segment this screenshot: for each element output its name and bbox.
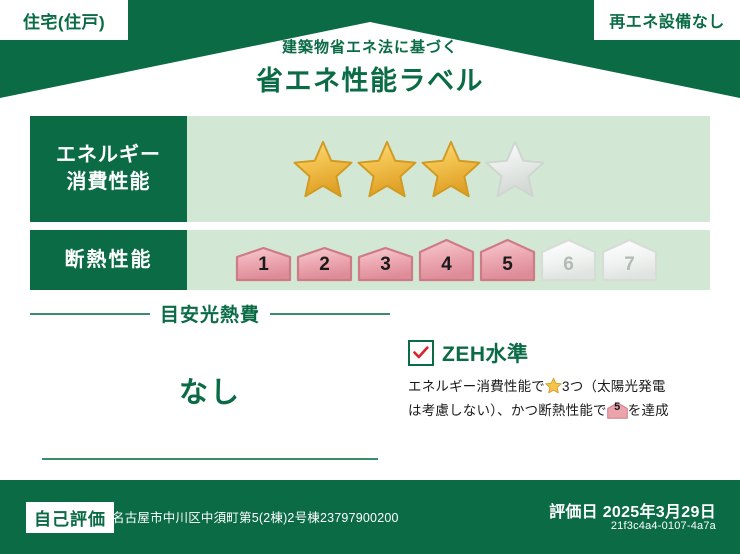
star-filled-icon: [292, 139, 354, 199]
row-energy-content: [187, 116, 710, 222]
row-energy-label-line2: 消費性能: [67, 169, 151, 196]
lower-section: 目安光熱費 なし ZEH水準 エネルギー消費性能で 3: [30, 300, 710, 475]
row-energy-consumption: エネルギー 消費性能: [30, 116, 710, 222]
label-footer: 自己評価 名古屋市中川区中須町第5(2棟)2号棟23797900200 評価日 …: [0, 480, 740, 554]
zeh-header: ZEH水準: [408, 338, 710, 368]
row-insulation: 断熱性能 1234567: [30, 230, 710, 290]
star-rating: [187, 139, 546, 199]
utility-cost-header: 目安光熱費: [30, 300, 390, 327]
zeh-title: ZEH水準: [442, 338, 529, 368]
performance-rows: エネルギー 消費性能 断熱性能 1234567: [30, 116, 710, 298]
insulation-level-7: 7: [601, 238, 658, 282]
energy-performance-label: 住宅(住戸) 再エネ設備なし 建築物省エネ法に基づく 省エネ性能ラベル エネルギ…: [0, 0, 740, 554]
inline-house-number: 5: [607, 398, 628, 417]
insulation-scale: 1234567: [187, 238, 658, 282]
title-subtitle: 建築物省エネ法に基づく: [0, 36, 740, 57]
insulation-level-3: 3: [357, 246, 414, 282]
insulation-level-5: 5: [479, 238, 536, 282]
insulation-level-number: 3: [357, 254, 414, 276]
self-evaluation-badge: 自己評価: [26, 502, 114, 533]
zeh-desc-part3: を達成: [628, 403, 669, 418]
utility-cost-value: なし: [30, 369, 390, 411]
zeh-description: エネルギー消費性能で 3つ（太陽光発電 は考慮しない）、かつ断熱性能で 5 を達…: [408, 375, 710, 422]
insulation-level-number: 2: [296, 254, 353, 276]
insulation-level-number: 6: [540, 254, 597, 276]
badge-renewable-energy: 再エネ設備なし: [594, 0, 740, 40]
inline-house-badge: 5: [607, 402, 628, 419]
insulation-level-number: 5: [479, 254, 536, 276]
property-address: 名古屋市中川区中須町第5(2棟)2号棟23797900200: [112, 507, 399, 526]
zeh-desc-part1: エネルギー消費性能で: [408, 379, 545, 394]
inline-star-icon: [545, 377, 562, 394]
evaluation-id: 21f3c4a4-0107-4a7a: [611, 520, 716, 532]
zeh-desc-part2: は考慮しない）、かつ断熱性能で: [408, 403, 607, 418]
utility-cost-title: 目安光熱費: [150, 300, 270, 327]
cost-rule-right: [270, 313, 390, 315]
row-insulation-content: 1234567: [187, 230, 710, 290]
badge-building-type: 住宅(住戸): [0, 0, 128, 40]
row-energy-label-line1: エネルギー: [56, 142, 161, 169]
insulation-level-1: 1: [235, 246, 292, 282]
insulation-level-number: 1: [235, 254, 292, 276]
zeh-checkbox[interactable]: [408, 340, 434, 366]
evaluation-date: 評価日 2025年3月29日: [549, 498, 716, 522]
star-filled-icon: [420, 139, 482, 199]
title-main: 省エネ性能ラベル: [0, 59, 740, 98]
insulation-level-2: 2: [296, 246, 353, 282]
star-empty-icon: [484, 139, 546, 199]
insulation-level-6: 6: [540, 238, 597, 282]
zeh-block: ZEH水準 エネルギー消費性能で 3つ（太陽光発電 は考慮しない）、かつ断熱性能…: [390, 300, 710, 475]
row-insulation-label-line1: 断熱性能: [65, 247, 153, 274]
star-filled-icon: [356, 139, 418, 199]
label-title-block: 建築物省エネ法に基づく 省エネ性能ラベル: [0, 36, 740, 98]
row-energy-label: エネルギー 消費性能: [30, 116, 187, 222]
cost-rule-bottom: [42, 458, 378, 460]
zeh-star-count: 3つ（太陽光発電: [562, 379, 666, 394]
utility-cost-block: 目安光熱費 なし: [30, 300, 390, 475]
insulation-level-number: 4: [418, 254, 475, 276]
check-icon: [413, 346, 429, 360]
cost-rule-left: [30, 313, 150, 315]
insulation-level-4: 4: [418, 238, 475, 282]
row-insulation-label: 断熱性能: [30, 230, 187, 290]
insulation-level-number: 7: [601, 254, 658, 276]
